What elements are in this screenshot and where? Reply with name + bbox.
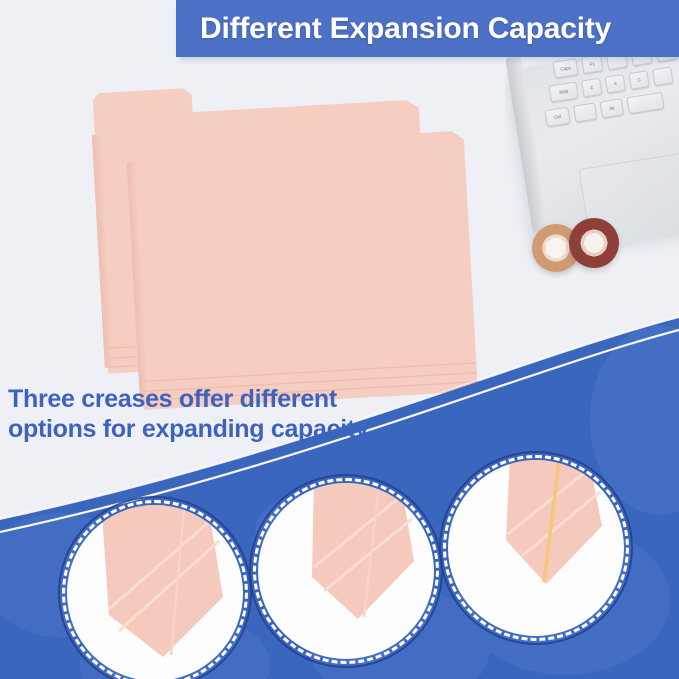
- circle-one-dashed-border: [62, 500, 248, 679]
- key-x: X: [605, 74, 626, 94]
- crease-option-three-circle[interactable]: [443, 455, 629, 641]
- subtitle-line-1: Three creases offer different: [8, 385, 428, 415]
- front-folder-body: [122, 97, 478, 411]
- product-infographic: Caps F1 Shift Z X C Ctrl Alt: [0, 0, 679, 679]
- crease-option-two-circle[interactable]: [253, 478, 439, 664]
- crease-option-one-circle[interactable]: [62, 500, 248, 679]
- key-f1: F1: [581, 54, 603, 74]
- title-banner: Different Expansion Capacity: [176, 0, 679, 57]
- key-c: C: [628, 70, 649, 90]
- subtitle-text: Three creases offer different options fo…: [8, 385, 428, 444]
- circle-three-dashed-border: [443, 455, 629, 641]
- circle-two-dashed-border: [253, 478, 439, 664]
- file-folder-group: [95, 80, 515, 400]
- front-folder: [122, 97, 478, 411]
- key-alt: Alt: [600, 98, 624, 118]
- key-fn: [573, 102, 597, 122]
- page-title: Different Expansion Capacity: [176, 12, 611, 46]
- subtitle-line-2: options for expanding capacity: [8, 415, 428, 445]
- key-v: [652, 66, 673, 86]
- laptop-photo-scene: Caps F1 Shift Z X C Ctrl Alt: [505, 48, 679, 278]
- key-z: Z: [581, 78, 602, 98]
